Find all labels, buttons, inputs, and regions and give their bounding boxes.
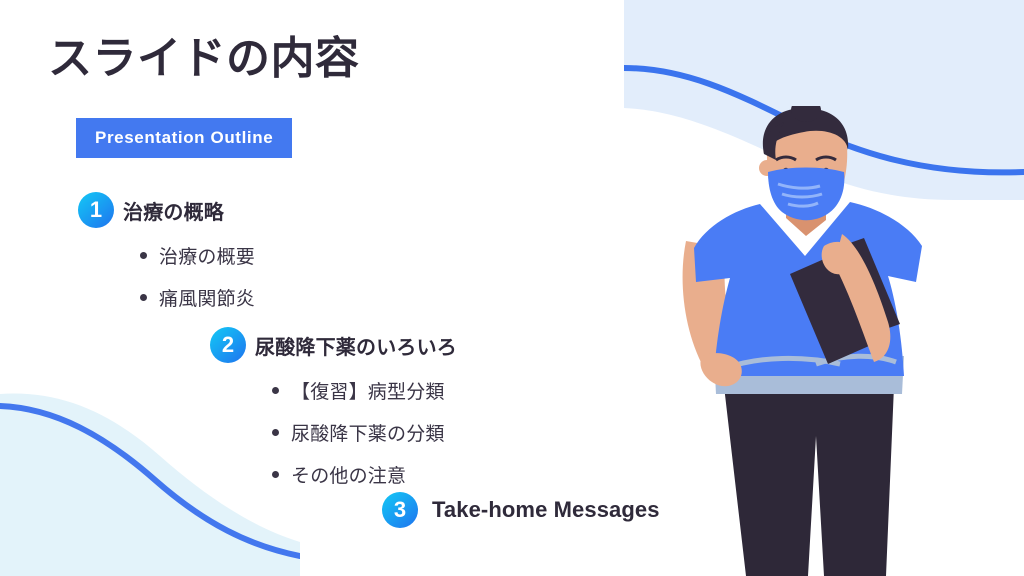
section-1-bullet-list: 治療の概要 痛風関節炎 (140, 242, 255, 311)
illustration-face-mask (768, 168, 844, 221)
section-3-header: 3 Take-home Messages (382, 492, 660, 528)
list-item: 治療の概要 (140, 242, 255, 269)
slide-canvas: スライドの内容 Presentation Outline 1 治療の概略 治療の… (0, 0, 1024, 576)
bullet-dot-icon (140, 252, 147, 259)
list-item: 【復習】病型分類 (272, 377, 457, 404)
masked-healthcare-worker-illustration (664, 106, 1024, 576)
section-2-header: 2 尿酸降下薬のいろいろ (210, 327, 457, 363)
section-1-header: 1 治療の概略 (78, 192, 255, 228)
list-item: その他の注意 (272, 461, 457, 488)
section-number-badge-3: 3 (382, 492, 418, 528)
bullet-dot-icon (140, 294, 147, 301)
section-number-badge-2: 2 (210, 327, 246, 363)
section-2-bullet-list: 【復習】病型分類 尿酸降下薬の分類 その他の注意 (272, 377, 457, 488)
section-2: 2 尿酸降下薬のいろいろ 【復習】病型分類 尿酸降下薬の分類 その他の注意 (210, 327, 457, 503)
section-1: 1 治療の概略 治療の概要 痛風関節炎 (78, 192, 255, 326)
section-3: 3 Take-home Messages (382, 492, 660, 528)
bullet-dot-icon (272, 387, 279, 394)
list-item-label: その他の注意 (291, 461, 406, 488)
list-item-label: 尿酸降下薬の分類 (291, 419, 445, 446)
list-item-label: 痛風関節炎 (159, 284, 255, 311)
list-item-label: 【復習】病型分類 (291, 377, 445, 404)
illustration-pants (724, 386, 894, 576)
bullet-dot-icon (272, 471, 279, 478)
list-item: 尿酸降下薬の分類 (272, 419, 457, 446)
page-title: スライドの内容 (48, 33, 360, 86)
list-item: 痛風関節炎 (140, 284, 255, 311)
section-1-title: 治療の概略 (123, 196, 224, 225)
section-2-title: 尿酸降下薬のいろいろ (255, 331, 457, 360)
section-3-title: Take-home Messages (432, 497, 660, 523)
bullet-dot-icon (272, 429, 279, 436)
list-item-label: 治療の概要 (159, 242, 255, 269)
outline-badge: Presentation Outline (76, 118, 292, 158)
section-number-badge-1: 1 (78, 192, 114, 228)
